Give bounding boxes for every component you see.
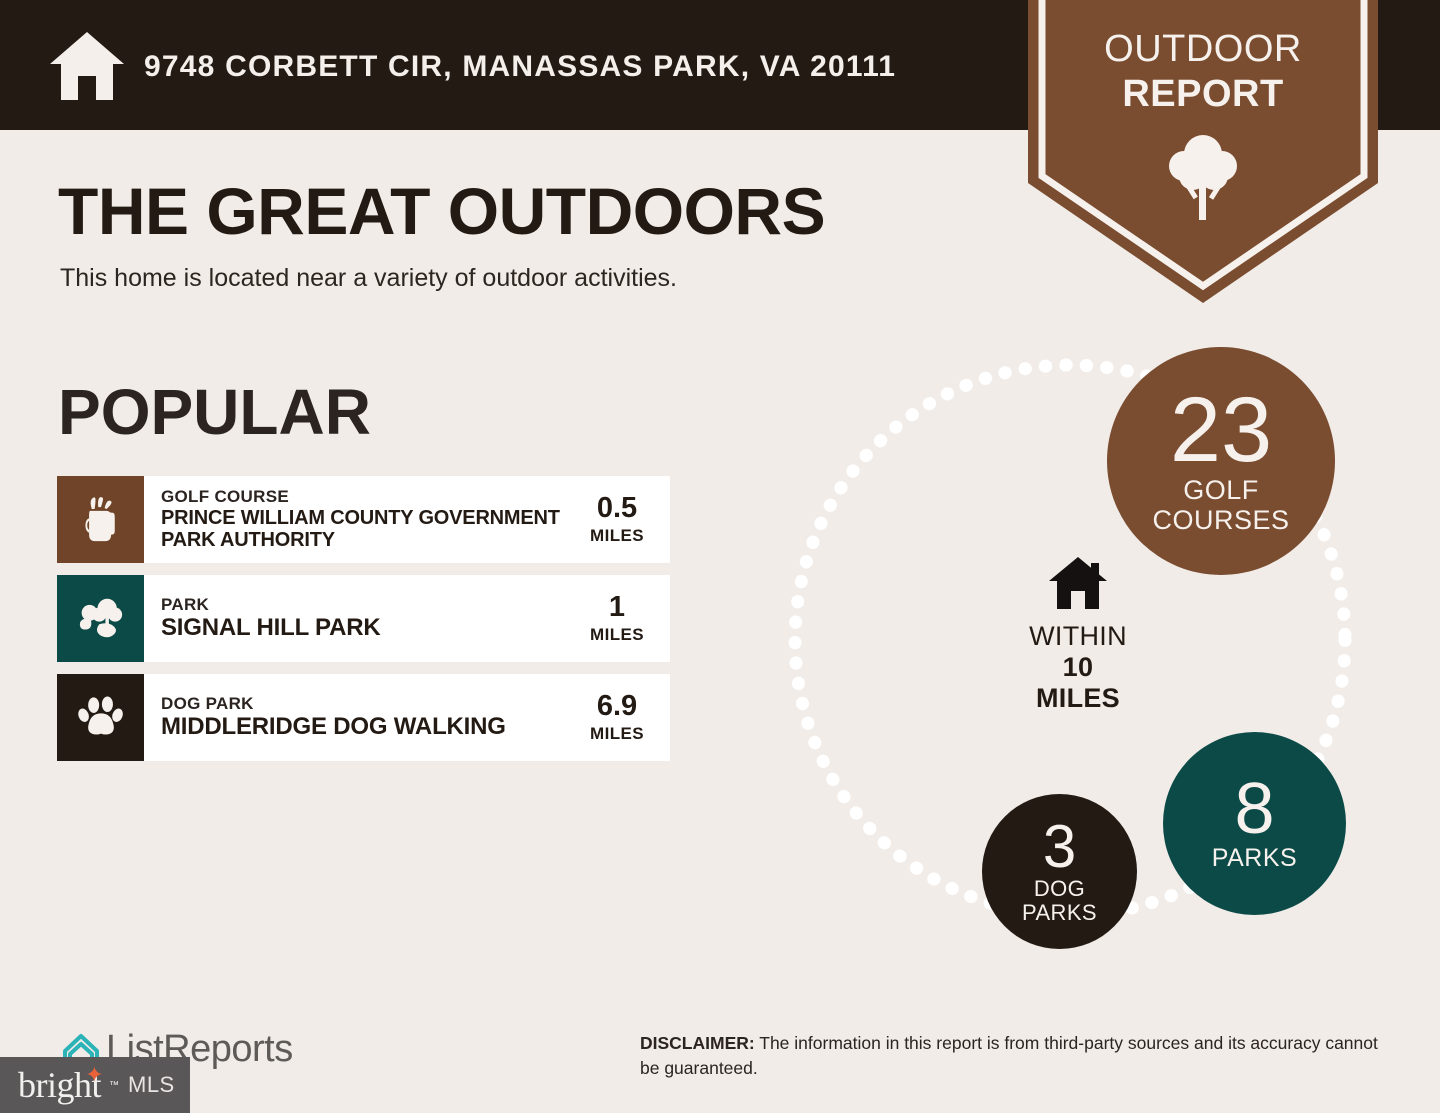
- section-title-popular: POPULAR: [58, 380, 371, 444]
- golf-bag-icon: [57, 476, 144, 563]
- list-item-category: DOG PARK: [161, 694, 574, 714]
- stat-label-line2: PARKS: [1022, 901, 1097, 925]
- page-title: THE GREAT OUTDOORS: [58, 178, 825, 244]
- list-item-name: MIDDLERIDGE DOG WALKING: [161, 714, 574, 741]
- center-label-line1: WITHIN: [1018, 621, 1138, 652]
- distance-unit: MILES: [590, 625, 644, 645]
- center-label-line2: 10 MILES: [1018, 652, 1138, 714]
- stat-bubble-parks[interactable]: 8 PARKS: [1163, 732, 1346, 915]
- distance-value: 6.9: [597, 692, 637, 721]
- disclaimer-label: DISCLAIMER:: [640, 1033, 755, 1053]
- bright-wordmark: bright✦: [18, 1064, 101, 1106]
- stat-label-line2: COURSES: [1152, 506, 1289, 536]
- distance-value: 0.5: [597, 494, 637, 523]
- mls-text: MLS: [128, 1072, 175, 1098]
- paw-icon: [57, 674, 144, 761]
- star-icon: ✦: [85, 1062, 103, 1088]
- stat-value: 23: [1170, 387, 1272, 474]
- stat-value: 3: [1043, 818, 1076, 875]
- list-item-category: PARK: [161, 595, 574, 615]
- list-item-distance: 0.5 MILES: [574, 476, 670, 563]
- distance-unit: MILES: [590, 724, 644, 744]
- stat-label-line1: PARKS: [1212, 845, 1297, 873]
- tree-icon: [1167, 130, 1239, 222]
- stat-bubble-golf-courses[interactable]: 23 GOLF COURSES: [1107, 347, 1335, 575]
- diagram-center-label: WITHIN 10 MILES: [1018, 555, 1138, 714]
- distance-value: 1: [609, 593, 625, 622]
- trees-icon: [57, 575, 144, 662]
- within-radius-diagram: WITHIN 10 MILES 23 GOLF COURSES 8 PARKS …: [760, 330, 1380, 950]
- badge-title-line1: OUTDOOR: [1028, 28, 1378, 71]
- bright-mls-logo[interactable]: bright✦ ™ MLS: [0, 1057, 190, 1113]
- stat-label-line1: GOLF: [1183, 476, 1259, 506]
- list-item-name: SIGNAL HILL PARK: [161, 615, 574, 642]
- page-subtitle: This home is located near a variety of o…: [60, 264, 677, 293]
- badge-title-line2: REPORT: [1028, 73, 1378, 116]
- popular-list: GOLF COURSE PRINCE WILLIAM COUNTY GOVERN…: [57, 476, 670, 773]
- home-icon: [48, 30, 126, 102]
- list-item[interactable]: PARK SIGNAL HILL PARK 1 MILES: [57, 575, 670, 662]
- list-item-distance: 6.9 MILES: [574, 674, 670, 761]
- list-item-distance: 1 MILES: [574, 575, 670, 662]
- list-item[interactable]: DOG PARK MIDDLERIDGE DOG WALKING 6.9 MIL…: [57, 674, 670, 761]
- stat-bubble-dog-parks[interactable]: 3 DOG PARKS: [982, 794, 1137, 949]
- list-item-category: GOLF COURSE: [161, 487, 574, 507]
- home-icon: [1018, 555, 1138, 611]
- list-item[interactable]: GOLF COURSE PRINCE WILLIAM COUNTY GOVERN…: [57, 476, 670, 563]
- stat-value: 8: [1234, 775, 1274, 843]
- outdoor-report-badge: OUTDOOR REPORT: [1028, 0, 1378, 308]
- trademark-symbol: ™: [109, 1080, 119, 1091]
- stat-label-line1: DOG: [1034, 877, 1085, 901]
- property-address: 9748 CORBETT CIR, MANASSAS PARK, VA 2011…: [144, 50, 896, 84]
- disclaimer: DISCLAIMER: The information in this repo…: [640, 1031, 1400, 1082]
- list-item-name: PRINCE WILLIAM COUNTY GOVERNMENT PARK AU…: [161, 507, 574, 552]
- distance-unit: MILES: [590, 526, 644, 546]
